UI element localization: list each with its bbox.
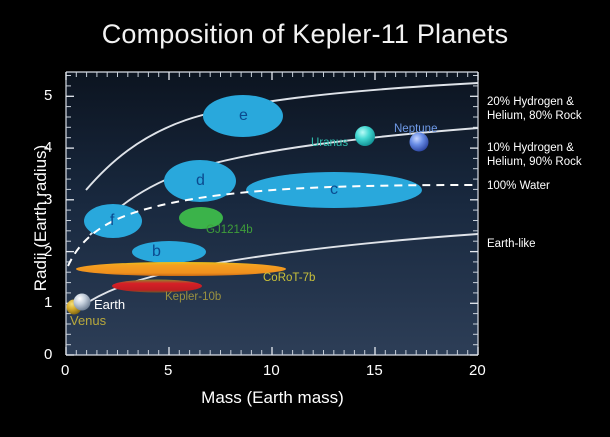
- object-label-earth: Earth: [94, 297, 125, 312]
- object-sphere-neptune[interactable]: [410, 133, 429, 152]
- x-tick-0: 0: [61, 362, 69, 379]
- object-label-neptune: Neptune: [394, 123, 437, 135]
- kepler-11-composition-figure: Composition of Kepler-11 Planets: [0, 0, 610, 437]
- object-label-venus: Venus: [70, 313, 106, 328]
- planet-label-f: f: [110, 212, 114, 230]
- planet-label-c: c: [330, 181, 338, 199]
- legend-20pct-hydrogen-helium: 20% Hydrogen & Helium, 80% Rock: [487, 96, 582, 123]
- planet-label-d: d: [196, 172, 205, 190]
- object-label-uranus: Uranus: [311, 137, 348, 149]
- y-axis-title: Radii (Earth radius): [31, 98, 51, 338]
- x-tick-10: 10: [263, 362, 280, 379]
- planet-label-e: e: [239, 107, 248, 125]
- x-tick-5: 5: [164, 362, 172, 379]
- object-label-gj1214b: GJ1214b: [206, 224, 253, 236]
- legend-100pct-water: 100% Water: [487, 180, 550, 194]
- x-tick-20: 20: [469, 362, 486, 379]
- object-label-kepler-10b: Kepler-10b: [165, 291, 221, 303]
- x-tick-15: 15: [366, 362, 383, 379]
- planet-label-b: b: [152, 243, 161, 261]
- x-axis-title: Mass (Earth mass): [0, 388, 545, 408]
- legend-10pct-hydrogen-helium: 10% Hydrogen & Helium, 90% Rock: [487, 142, 582, 169]
- y-tick-0: 0: [44, 346, 52, 363]
- plot-canvas: [0, 0, 610, 437]
- object-sphere-uranus[interactable]: [355, 126, 375, 146]
- object-label-corot-7b: CoRoT-7b: [263, 272, 315, 284]
- object-ellipse-corot-7b[interactable]: [76, 262, 286, 276]
- planet-ellipse-b[interactable]: [132, 241, 206, 263]
- legend-earth-like: Earth-like: [487, 238, 536, 252]
- object-sphere-earth[interactable]: [74, 294, 91, 311]
